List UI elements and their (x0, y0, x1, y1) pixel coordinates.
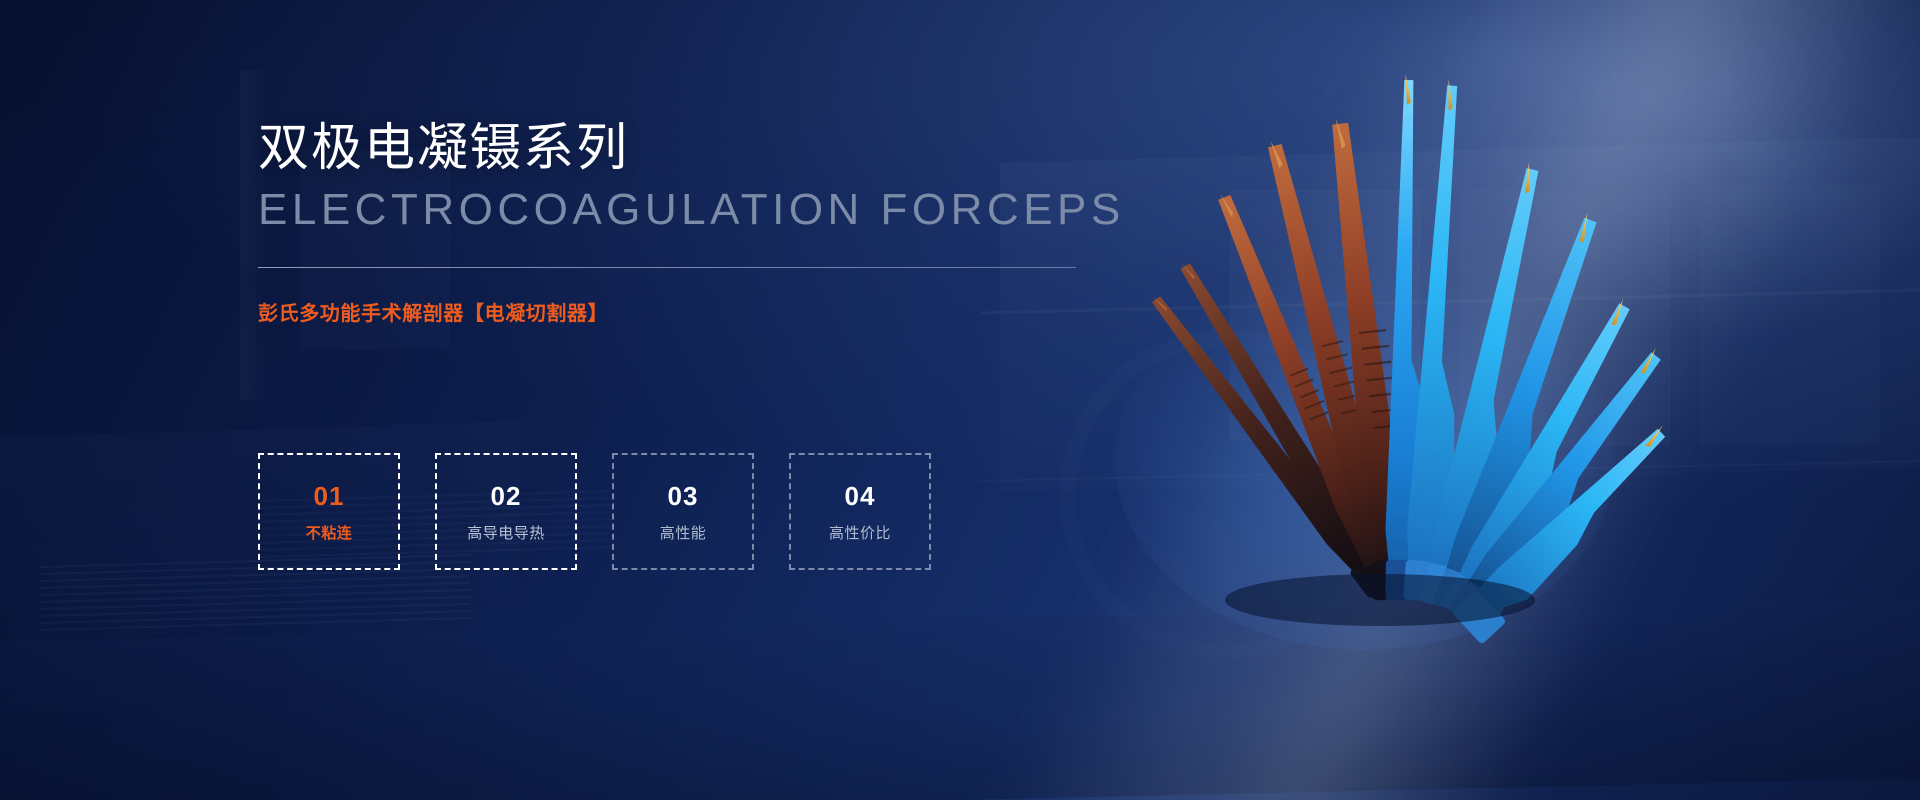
vignette-overlay (0, 0, 1920, 800)
product-banner: 双极电凝镊系列 ELECTROCOAGULATION FORCEPS 彭氏多功能… (0, 0, 1920, 800)
